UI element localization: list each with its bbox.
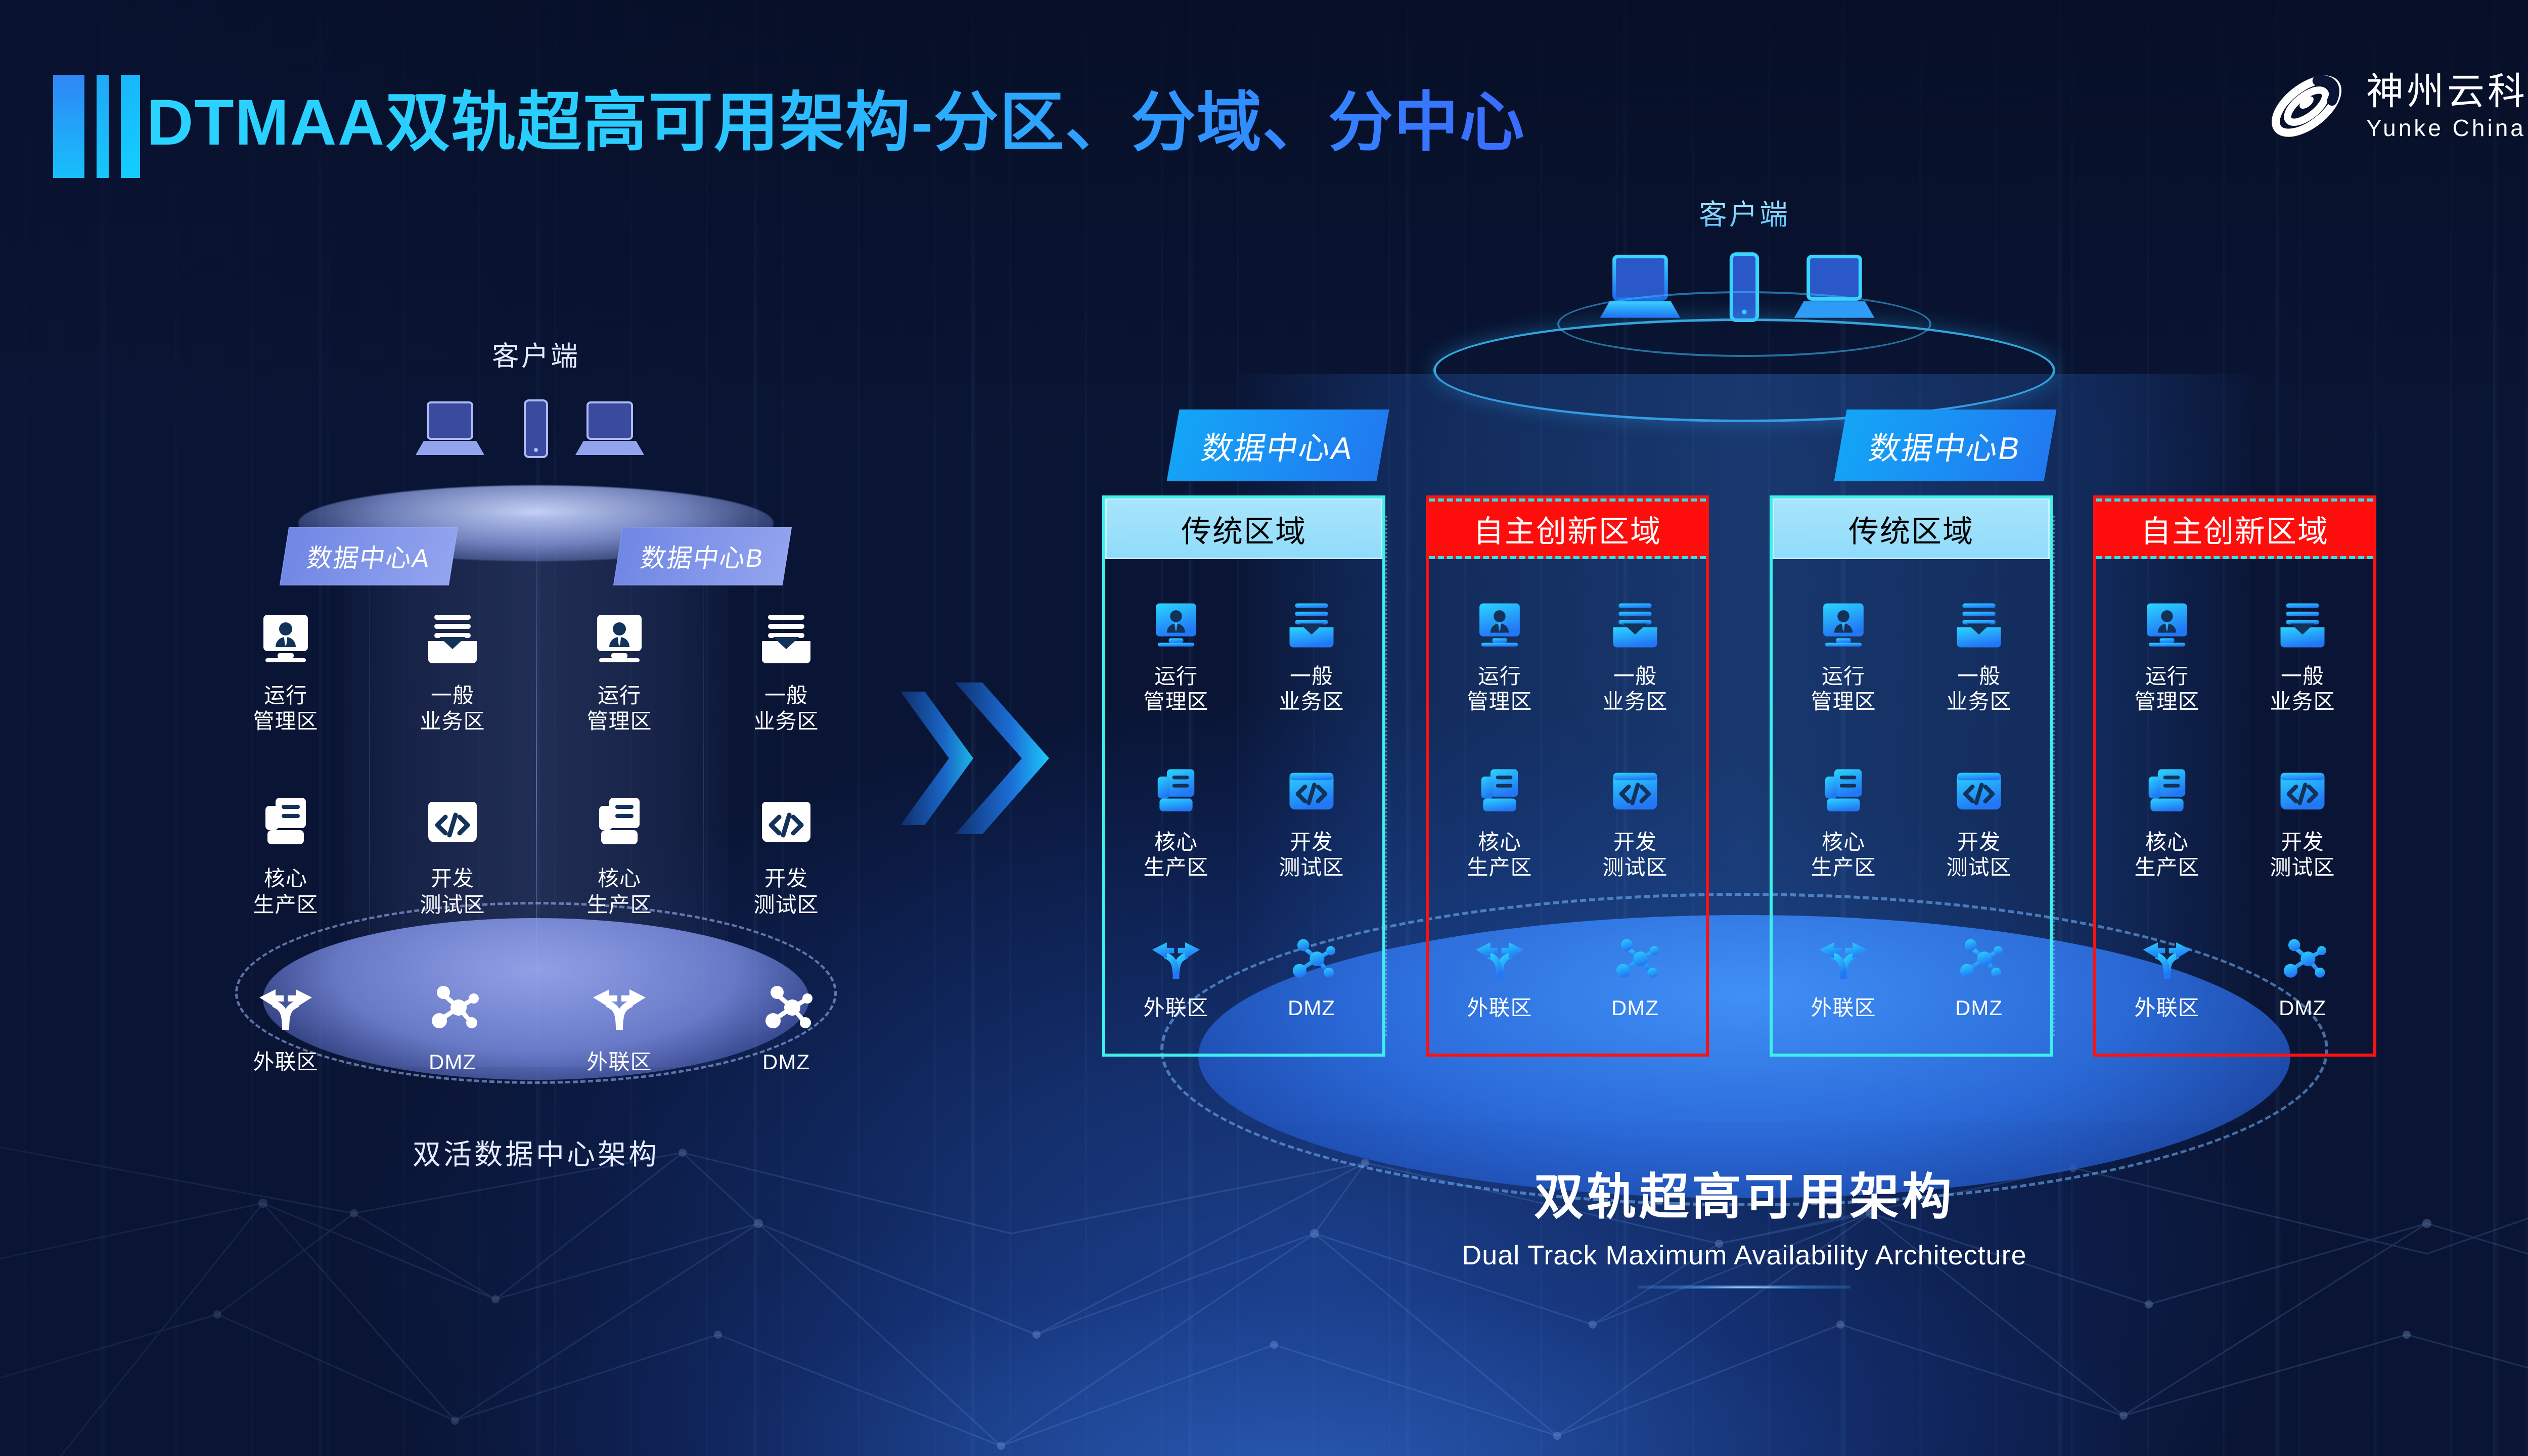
right-zone-label: 核心生产区 — [1467, 830, 1532, 881]
right-zone-label: 外联区 — [1143, 995, 1208, 1021]
right-zone-label: 核心生产区 — [1811, 830, 1876, 881]
network-nodes-icon — [1606, 928, 1664, 986]
right-zone-server-docs[interactable]: 核心生产区 — [1776, 762, 1911, 881]
right-zone-label: DMZ — [1288, 995, 1335, 1021]
left-datacenter-tag-a-label: 数据中心A — [280, 527, 459, 585]
panel-header-label: 自主创新区域 — [2096, 498, 2373, 559]
panel-divider-a — [1385, 516, 1387, 1036]
right-zone-label: 开发测试区 — [1946, 830, 2011, 881]
panel-divider-b — [2053, 516, 2055, 1036]
right-zone-label: 开发测试区 — [1279, 830, 1344, 881]
left-architecture-diagram: 客户端 数据中心A 数据中心B 运行管理区一般业务区运行管理区一般业务区核心生产… — [202, 334, 870, 1203]
right-zone-label: 运行管理区 — [1811, 664, 1876, 715]
left-datacenter-tag-b[interactable]: 数据中心B — [618, 527, 787, 585]
left-zone-label: 运行管理区 — [586, 682, 652, 734]
left-zone-label: 核心生产区 — [586, 866, 652, 917]
right-zone-label: 运行管理区 — [1467, 664, 1532, 715]
right-zone-branch-arrows[interactable]: 外联区 — [1432, 928, 1567, 1021]
right-datacenter-tag-b[interactable]: 数据中心B — [1840, 409, 2050, 481]
right-architecture-diagram: 客户端 数据中心A 数据中心B 传统区域 — [1011, 192, 2477, 1314]
code-window-icon — [1282, 762, 1341, 821]
right-zone-user-monitor[interactable]: 运行管理区 — [1108, 596, 1244, 715]
left-client-label: 客户端 — [202, 334, 870, 374]
right-zone-label: DMZ — [2279, 995, 2326, 1021]
right-zone-inbox-tray[interactable]: 一般业务区 — [1911, 596, 2047, 715]
left-zone-branch-arrows[interactable]: 外联区 — [202, 973, 369, 1075]
code-window-icon — [2273, 762, 2332, 821]
panel-zone-grid: 运行管理区一般业务区核心生产区开发测试区外联区DMZ — [1105, 559, 1382, 1054]
right-datacenter-tag-b-label: 数据中心B — [1834, 409, 2056, 481]
inbox-tray-icon — [1950, 596, 2008, 655]
right-zone-label: 一般业务区 — [1602, 664, 1667, 715]
right-zone-label: 一般业务区 — [2270, 664, 2335, 715]
right-zone-label: 核心生产区 — [1143, 830, 1208, 881]
logo-name-en: Yunke China — [2366, 116, 2528, 140]
branch-arrows-icon — [253, 973, 318, 1038]
right-datacenter-tag-a-label: 数据中心A — [1166, 409, 1389, 481]
right-zone-code-window[interactable]: 开发测试区 — [1244, 762, 1379, 881]
right-zone-network-nodes[interactable]: DMZ — [1911, 928, 2047, 1021]
right-zone-label: DMZ — [1611, 995, 1659, 1021]
right-client-label: 客户端 — [1699, 192, 1790, 233]
right-zone-code-window[interactable]: 开发测试区 — [1567, 762, 1703, 881]
left-zone-label: 一般业务区 — [753, 682, 819, 734]
left-datacenter-tag-b-label: 数据中心B — [613, 527, 792, 585]
code-window-icon — [1950, 762, 2008, 821]
left-zone-network-nodes[interactable]: DMZ — [369, 973, 536, 1075]
right-zone-server-docs[interactable]: 核心生产区 — [1432, 762, 1567, 881]
right-zone-network-nodes[interactable]: DMZ — [1244, 928, 1379, 1021]
right-zone-branch-arrows[interactable]: 外联区 — [1776, 928, 1911, 1021]
left-zone-label: 外联区 — [586, 1049, 652, 1075]
left-zone-label: 运行管理区 — [253, 682, 318, 734]
laptop-icon — [575, 398, 656, 459]
left-zone-label: 核心生产区 — [253, 866, 318, 917]
right-zone-user-monitor[interactable]: 运行管理区 — [1776, 596, 1911, 715]
right-zone-inbox-tray[interactable]: 一般业务区 — [1244, 596, 1379, 715]
right-zone-panels: 传统区域运行管理区一般业务区核心生产区开发测试区外联区DMZ自主创新区域运行管理… — [1011, 495, 2477, 1057]
left-zone-network-nodes[interactable]: DMZ — [703, 973, 870, 1075]
code-window-icon — [754, 790, 819, 854]
inbox-tray-icon — [1282, 596, 1341, 655]
left-zone-server-docs[interactable]: 核心生产区 — [202, 790, 369, 917]
left-zone-user-monitor[interactable]: 运行管理区 — [536, 607, 703, 734]
inbox-tray-icon — [420, 607, 485, 671]
left-caption: 双活数据中心架构 — [202, 1132, 870, 1173]
inbox-tray-icon — [2273, 596, 2332, 655]
right-zone-label: 外联区 — [1467, 995, 1532, 1021]
panel-trad-dc-b[interactable]: 传统区域运行管理区一般业务区核心生产区开发测试区外联区DMZ — [1770, 495, 2053, 1057]
right-zone-branch-arrows[interactable]: 外联区 — [1108, 928, 1244, 1021]
network-nodes-icon — [2273, 928, 2332, 986]
user-monitor-icon — [1147, 596, 1205, 655]
left-zone-label: 开发测试区 — [420, 866, 485, 917]
left-zone-branch-arrows[interactable]: 外联区 — [536, 973, 703, 1075]
user-monitor-icon — [253, 607, 318, 671]
left-zone-user-monitor[interactable]: 运行管理区 — [202, 607, 369, 734]
right-zone-user-monitor[interactable]: 运行管理区 — [1432, 596, 1567, 715]
right-zone-label: DMZ — [1955, 995, 2003, 1021]
right-zone-label: 运行管理区 — [1143, 664, 1208, 715]
panel-trad-dc-a[interactable]: 传统区域运行管理区一般业务区核心生产区开发测试区外联区DMZ — [1102, 495, 1385, 1057]
left-zone-inbox-tray[interactable]: 一般业务区 — [703, 607, 870, 734]
user-monitor-icon — [587, 607, 652, 671]
branch-arrows-icon — [1470, 928, 1529, 986]
right-zone-server-docs[interactable]: 核心生产区 — [2099, 762, 2235, 881]
right-caption-en: Dual Track Maximum Availability Architec… — [1011, 1240, 2477, 1271]
left-zone-label: 开发测试区 — [753, 866, 819, 917]
network-nodes-icon — [754, 973, 819, 1038]
right-zone-code-window[interactable]: 开发测试区 — [2235, 762, 2370, 881]
caption-underline-glow — [1638, 1285, 1850, 1289]
logo-name-cn: 神州云科 — [2366, 73, 2528, 110]
right-zone-label: 运行管理区 — [2134, 664, 2199, 715]
panel-innov-dc-b[interactable]: 自主创新区域运行管理区一般业务区核心生产区开发测试区外联区DMZ — [2093, 495, 2376, 1057]
right-zone-inbox-tray[interactable]: 一般业务区 — [1567, 596, 1703, 715]
right-zone-code-window[interactable]: 开发测试区 — [1911, 762, 2047, 881]
left-zone-code-window[interactable]: 开发测试区 — [703, 790, 870, 917]
right-zone-label: 开发测试区 — [1602, 830, 1667, 881]
right-zone-label: 开发测试区 — [2270, 830, 2335, 881]
server-docs-icon — [1814, 762, 1873, 821]
branch-arrows-icon — [2138, 928, 2196, 986]
right-zone-label: 一般业务区 — [1279, 664, 1344, 715]
user-monitor-icon — [2138, 596, 2196, 655]
left-zone-grid: 运行管理区一般业务区运行管理区一般业务区核心生产区开发测试区核心生产区开发测试区… — [202, 607, 870, 1075]
panel-zone-grid: 运行管理区一般业务区核心生产区开发测试区外联区DMZ — [1429, 559, 1706, 1054]
code-window-icon — [420, 790, 485, 854]
left-datacenter-tags: 数据中心A 数据中心B — [202, 527, 870, 585]
server-docs-icon — [1470, 762, 1529, 821]
left-zone-label: 外联区 — [253, 1049, 318, 1075]
panel-header-label: 传统区域 — [1105, 498, 1382, 559]
right-zone-server-docs[interactable]: 核心生产区 — [1108, 762, 1244, 881]
network-nodes-icon — [1950, 928, 2008, 986]
laptop-icon — [416, 398, 496, 459]
left-zone-server-docs[interactable]: 核心生产区 — [536, 790, 703, 917]
swirl-logo-icon — [2261, 61, 2352, 152]
right-zone-label: 核心生产区 — [2134, 830, 2199, 881]
server-docs-icon — [253, 790, 318, 854]
panel-zone-grid: 运行管理区一般业务区核心生产区开发测试区外联区DMZ — [2096, 559, 2373, 1054]
right-zone-label: 一般业务区 — [1946, 664, 2011, 715]
network-nodes-icon — [420, 973, 485, 1038]
server-docs-icon — [2138, 762, 2196, 821]
network-nodes-icon — [1282, 928, 1341, 986]
server-docs-icon — [587, 790, 652, 854]
left-zone-code-window[interactable]: 开发测试区 — [369, 790, 536, 917]
right-datacenter-tag-a[interactable]: 数据中心A — [1173, 409, 1383, 481]
user-monitor-icon — [1470, 596, 1529, 655]
left-client-devices — [416, 398, 656, 459]
code-window-icon — [1606, 762, 1664, 821]
left-datacenter-tag-a[interactable]: 数据中心A — [284, 527, 454, 585]
right-caption: 双轨超高可用架构 Dual Track Maximum Availability… — [1011, 1157, 2477, 1289]
left-zone-label: 一般业务区 — [420, 682, 485, 734]
panel-zone-grid: 运行管理区一般业务区核心生产区开发测试区外联区DMZ — [1773, 559, 2050, 1054]
three-bars-icon — [53, 75, 140, 178]
right-zone-user-monitor[interactable]: 运行管理区 — [2099, 596, 2235, 715]
right-zone-branch-arrows[interactable]: 外联区 — [2099, 928, 2235, 1021]
left-zone-label: DMZ — [429, 1049, 476, 1075]
right-caption-cn: 双轨超高可用架构 — [1011, 1157, 2477, 1228]
branch-arrows-icon — [1147, 928, 1205, 986]
server-docs-icon — [1147, 762, 1205, 821]
panel-header-label: 传统区域 — [1773, 498, 2050, 559]
left-zone-label: DMZ — [762, 1049, 810, 1075]
right-zone-network-nodes[interactable]: DMZ — [1567, 928, 1703, 1021]
panel-innov-dc-a[interactable]: 自主创新区域运行管理区一般业务区核心生产区开发测试区外联区DMZ — [1426, 495, 1709, 1057]
page-header: DTMAA双轨超高可用架构-分区、分域、分中心 神州云科 Yunke China — [0, 0, 2528, 182]
left-zone-inbox-tray[interactable]: 一般业务区 — [369, 607, 536, 734]
right-zone-inbox-tray[interactable]: 一般业务区 — [2235, 596, 2370, 715]
brand-logo: 神州云科 Yunke China — [2261, 61, 2528, 152]
branch-arrows-icon — [1814, 928, 1873, 986]
right-zone-network-nodes[interactable]: DMZ — [2235, 928, 2370, 1021]
page-title: DTMAA双轨超高可用架构-分区、分域、分中心 — [147, 70, 1525, 163]
phone-icon — [521, 398, 551, 459]
right-zone-label: 外联区 — [1811, 995, 1876, 1021]
branch-arrows-icon — [587, 973, 652, 1038]
right-zone-label: 外联区 — [2134, 995, 2199, 1021]
user-monitor-icon — [1814, 596, 1873, 655]
inbox-tray-icon — [1606, 596, 1664, 655]
inbox-tray-icon — [754, 607, 819, 671]
panel-header-label: 自主创新区域 — [1429, 498, 1706, 559]
